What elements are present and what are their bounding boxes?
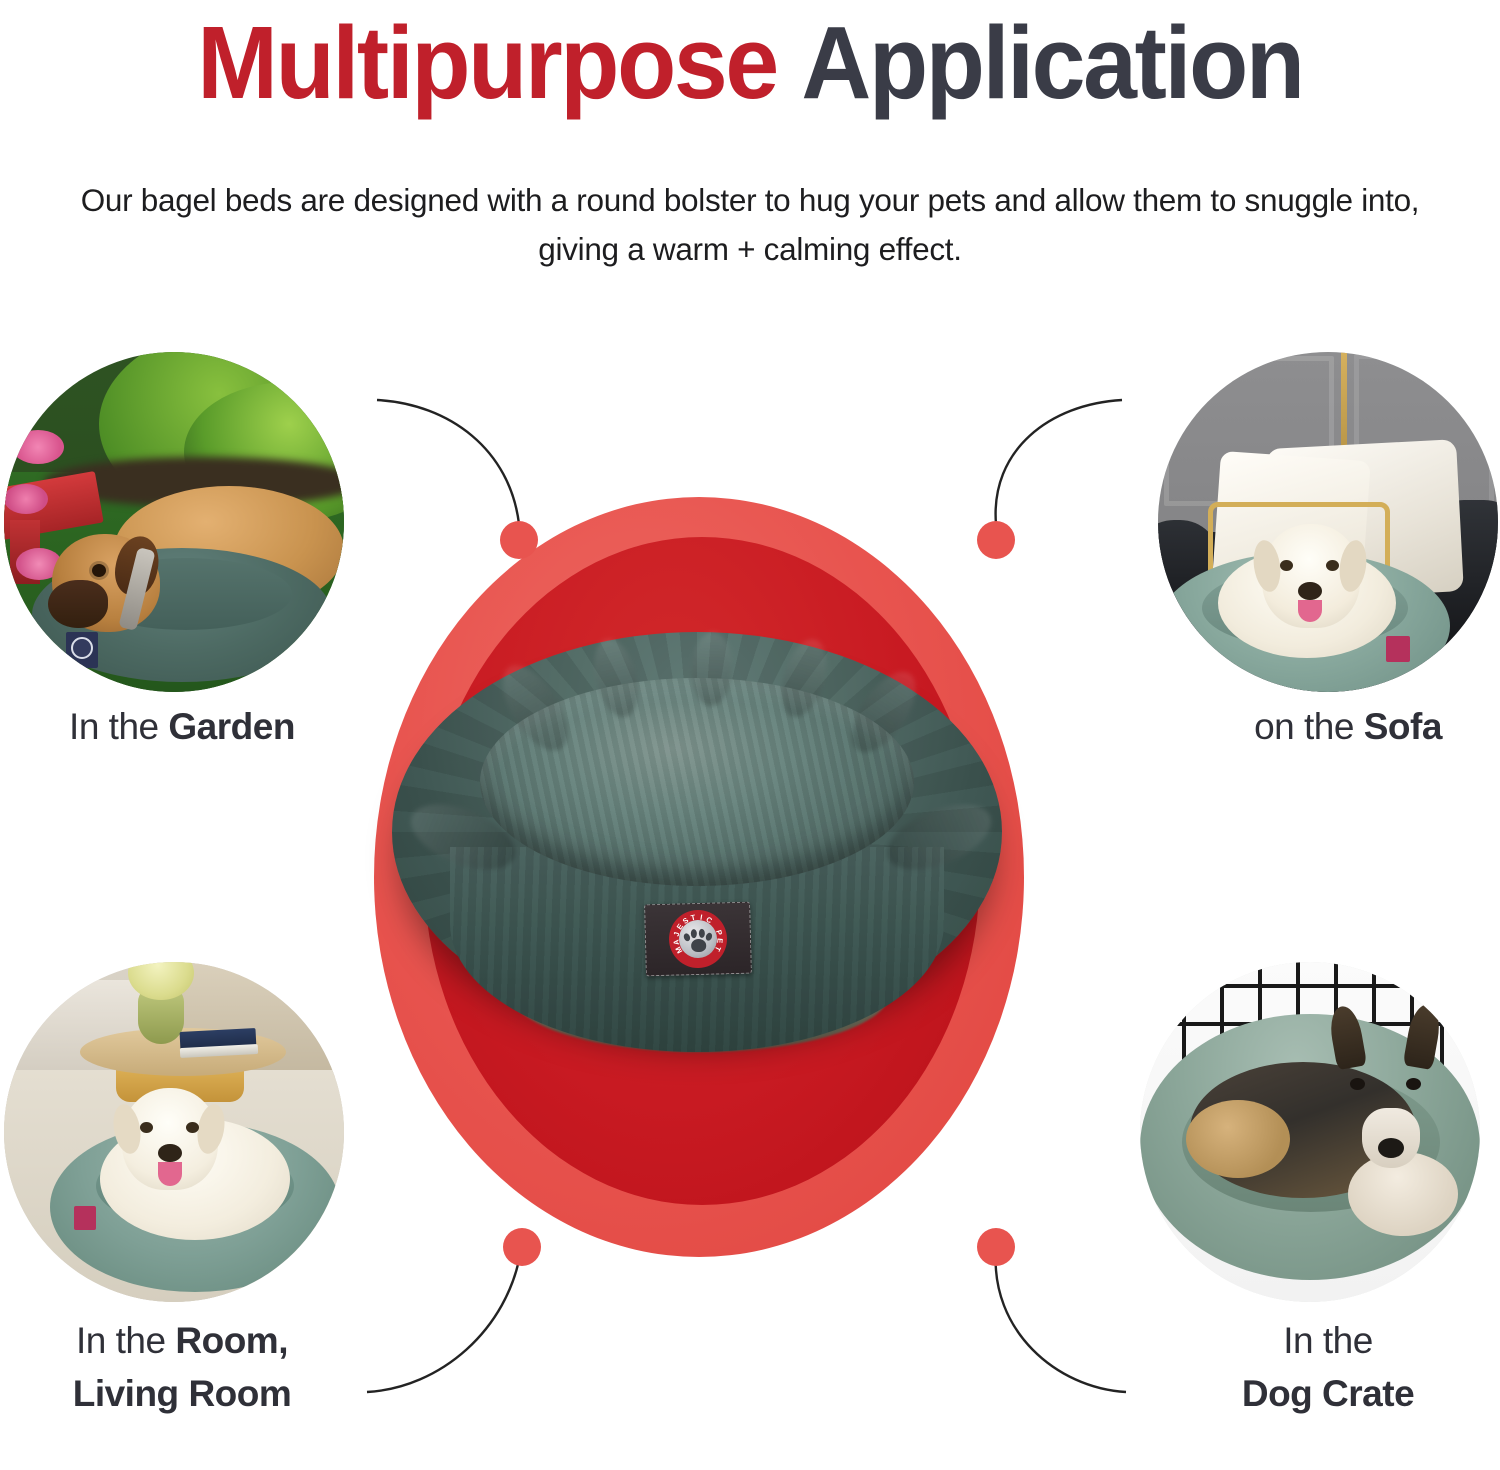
- product-image-bagel-bed: MAJESTIC PET: [392, 632, 1002, 1132]
- majestic-pet-brand-tag: MAJESTIC PET: [644, 902, 752, 977]
- page-subtitle: Our bagel beds are designed with a round…: [50, 176, 1450, 274]
- photo-garden: [4, 352, 344, 692]
- product-hero: MAJESTIC PET: [374, 497, 1024, 1257]
- connector-dot-sofa: [977, 521, 1015, 559]
- infographic-page: Multipurpose Application Our bagel beds …: [0, 0, 1500, 1470]
- connector-dot-garden: [500, 521, 538, 559]
- caption-sofa-regular: on the: [1254, 706, 1364, 747]
- connector-dot-dog-crate: [977, 1228, 1015, 1266]
- callout-living-room[interactable]: In the Room, Living Room: [4, 962, 344, 1302]
- callout-garden[interactable]: In the Garden: [4, 352, 344, 692]
- caption-living-room-bold-2: Living Room: [73, 1373, 292, 1414]
- brand-logo-ring: MAJESTIC PET: [668, 909, 727, 968]
- caption-sofa: on the Sofa: [1178, 700, 1500, 753]
- photo-dog-crate: [1140, 962, 1480, 1302]
- caption-dog-crate-regular: In the: [1283, 1320, 1373, 1361]
- caption-dog-crate-bold: Dog Crate: [1242, 1373, 1414, 1414]
- connector-dot-living-room: [503, 1228, 541, 1266]
- caption-garden-bold: Garden: [168, 706, 295, 747]
- caption-dog-crate: In the Dog Crate: [1158, 1314, 1498, 1420]
- page-title: Multipurpose Application: [45, 8, 1455, 118]
- page-title-dark-word: Application: [801, 5, 1302, 120]
- callout-sofa[interactable]: on the Sofa: [1158, 352, 1498, 692]
- page-title-red-word: Multipurpose: [197, 5, 777, 120]
- photo-living-room: [4, 962, 344, 1302]
- caption-garden: In the Garden: [12, 700, 352, 753]
- photo-sofa: [1158, 352, 1498, 692]
- caption-sofa-bold: Sofa: [1364, 706, 1442, 747]
- caption-living-room-bold: Room,: [175, 1320, 288, 1361]
- callout-dog-crate[interactable]: In the Dog Crate: [1140, 962, 1480, 1302]
- caption-living-room-regular: In the: [76, 1320, 175, 1361]
- caption-garden-regular: In the: [69, 706, 168, 747]
- caption-living-room: In the Room, Living Room: [12, 1314, 352, 1420]
